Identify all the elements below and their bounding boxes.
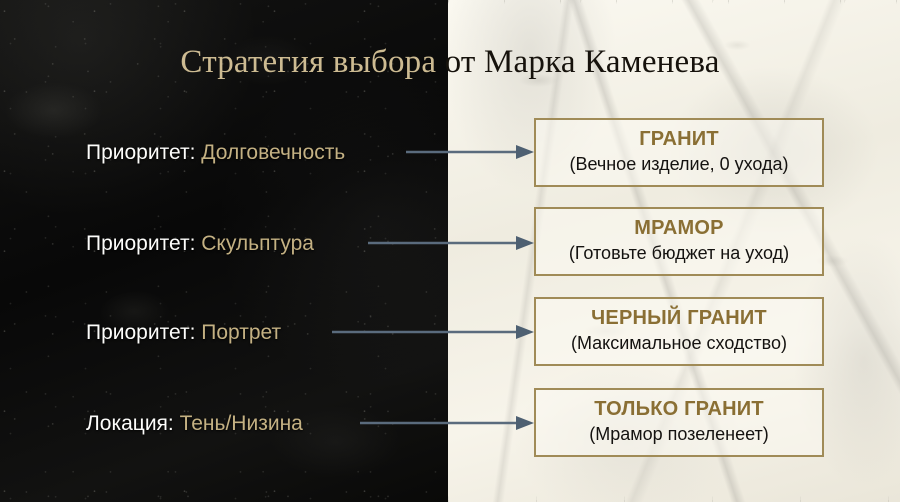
slide-canvas: Стратегия выбора от Марка Каменева Приор… <box>0 0 900 502</box>
page-title-segment-gold: Стратегия выбора <box>180 44 444 80</box>
recommendation-title-2: МРАМОР <box>542 216 816 241</box>
criterion-key-1: Приоритет: <box>86 141 195 164</box>
criterion-label-1: Приоритет: Долговечность <box>86 140 345 166</box>
criterion-value-4: Тень/Низина <box>180 412 303 435</box>
recommendation-subtitle-3: (Максимальное сходство) <box>542 331 816 355</box>
page-title-segment-dark: от Марка Каменева <box>445 44 720 80</box>
arrow-durability <box>406 143 534 161</box>
recommendation-card-4[interactable]: ТОЛЬКО ГРАНИТ (Мрамор позеленеет) <box>534 388 824 457</box>
criterion-value-1: Долговечность <box>201 141 345 164</box>
criterion-key-2: Приоритет: <box>86 232 195 255</box>
criterion-key-3: Приоритет: <box>86 321 195 344</box>
recommendation-title-3: ЧЕРНЫЙ ГРАНИТ <box>542 306 816 331</box>
arrow-location <box>360 414 534 432</box>
recommendation-title-4: ТОЛЬКО ГРАНИТ <box>542 397 816 422</box>
criterion-label-4: Локация: Тень/Низина <box>86 411 303 437</box>
recommendation-card-3[interactable]: ЧЕРНЫЙ ГРАНИТ (Максимальное сходство) <box>534 297 824 366</box>
arrow-sculpture <box>368 234 534 252</box>
criterion-key-4: Локация: <box>86 412 174 435</box>
criterion-label-3: Приоритет: Портрет <box>86 320 281 346</box>
page-title: Стратегия выбора от Марка Каменева <box>0 42 900 82</box>
criterion-value-2: Скульптура <box>201 232 314 255</box>
recommendation-subtitle-1: (Вечное изделие, 0 ухода) <box>542 152 816 176</box>
recommendation-card-1[interactable]: ГРАНИТ (Вечное изделие, 0 ухода) <box>534 118 824 187</box>
arrow-portrait <box>332 323 534 341</box>
criterion-label-2: Приоритет: Скульптура <box>86 231 314 257</box>
recommendation-subtitle-2: (Готовьте бюджет на уход) <box>542 241 816 265</box>
criterion-value-3: Портрет <box>201 321 281 344</box>
recommendation-subtitle-4: (Мрамор позеленеет) <box>542 422 816 446</box>
recommendation-title-1: ГРАНИТ <box>542 127 816 152</box>
recommendation-card-2[interactable]: МРАМОР (Готовьте бюджет на уход) <box>534 207 824 276</box>
